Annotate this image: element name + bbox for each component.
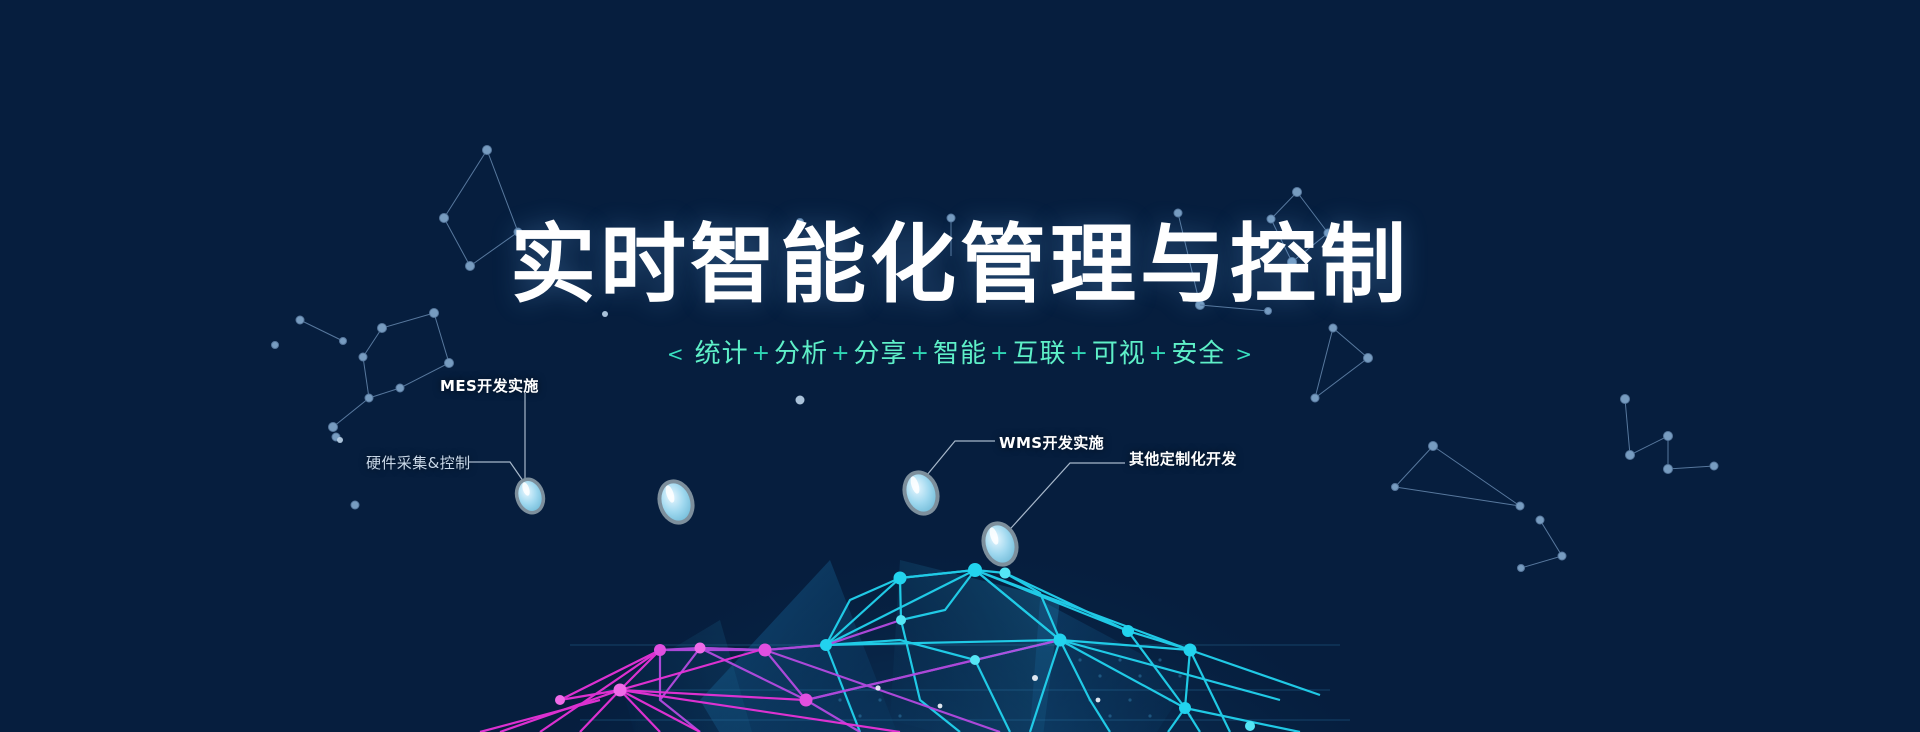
hero-banner: 实时智能化管理与控制 <统计+分析+分享+智能+互联+可视+安全> MES开发实… [0,0,1920,732]
network-globe-graphic [0,0,1920,732]
pin-marker [512,476,547,516]
